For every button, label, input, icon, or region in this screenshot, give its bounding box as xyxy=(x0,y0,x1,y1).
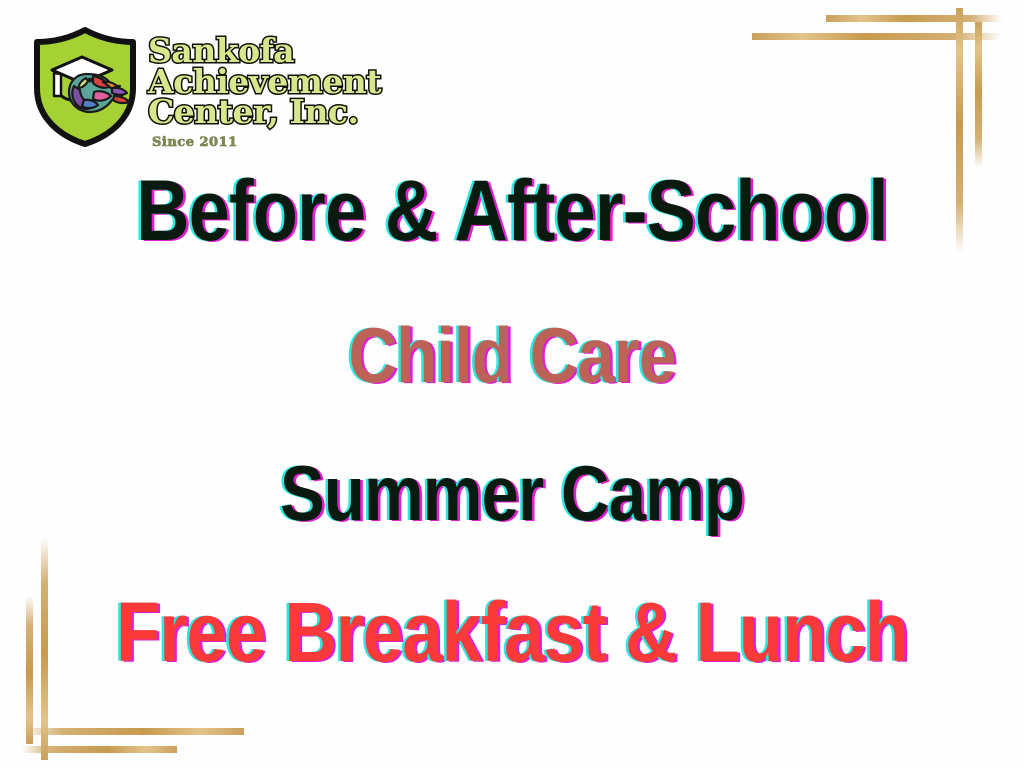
headline-child-care: Child Care xyxy=(72,316,953,394)
flyer-canvas: Sankofa Achievement Center, Inc. Since 2… xyxy=(0,0,1024,768)
logo-wordmark: Sankofa Achievement Center, Inc. Since 2… xyxy=(148,26,381,150)
logo-since-text: Since 2011 xyxy=(152,135,381,150)
ornament-line-horizontal-short xyxy=(826,15,1002,22)
headline-free-breakfast-lunch: Free Breakfast & Lunch xyxy=(72,590,953,674)
ornament-line-horizontal-short xyxy=(22,746,177,753)
ornament-line-horizontal-long xyxy=(752,33,1002,40)
headline-stack: Before & After-School Child Care Summer … xyxy=(0,168,1024,674)
headline-before-after-school: Before & After-School xyxy=(72,168,953,254)
logo-line-3: Center, Inc. xyxy=(148,97,381,128)
headline-summer-camp: Summer Camp xyxy=(72,454,953,532)
ornament-line-horizontal-long xyxy=(22,728,244,735)
ornament-line-vertical-short xyxy=(975,22,982,168)
shield-badge-icon xyxy=(30,26,140,148)
organization-logo: Sankofa Achievement Center, Inc. Since 2… xyxy=(30,26,381,150)
